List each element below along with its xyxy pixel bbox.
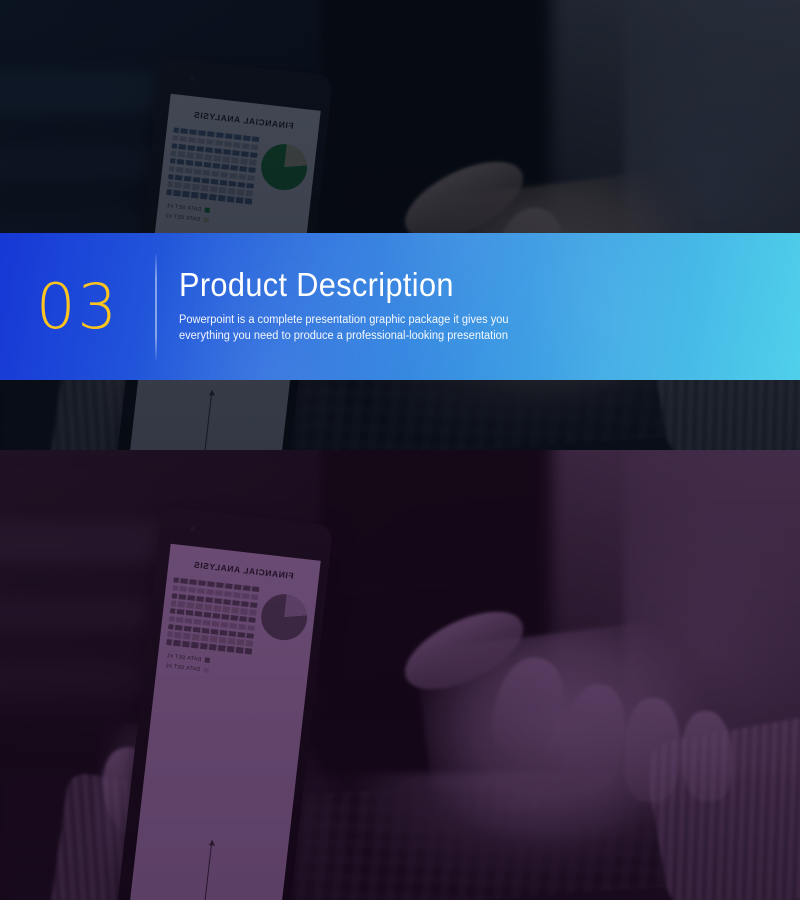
banner-number: 03	[0, 276, 155, 338]
slide-deck-preview: FINANCIAL ANALYSIS	[0, 0, 800, 900]
banner-title: Product Description	[179, 268, 498, 303]
banner-subtitle-line-2: everything you need to produce a profess…	[179, 328, 509, 345]
slide-blue[interactable]: FINANCIAL ANALYSIS	[0, 0, 800, 450]
slide-background-photo: FINANCIAL ANALYSIS	[0, 450, 800, 900]
banner-text-block: Product Description Powerpoint is a comp…	[157, 268, 522, 345]
banner-subtitle-line-1: Powerpoint is a complete presentation gr…	[179, 312, 509, 329]
photo-darken-overlay	[0, 450, 800, 900]
banner-subtitle: Powerpoint is a complete presentation gr…	[179, 312, 509, 345]
slide-background-photo: FINANCIAL ANALYSIS	[0, 0, 800, 450]
banner-blue[interactable]: 03 Product Description Powerpoint is a c…	[0, 233, 800, 380]
slide-purple[interactable]: FINANCIAL ANALYSIS	[0, 450, 800, 900]
photo-darken-overlay	[0, 0, 800, 450]
